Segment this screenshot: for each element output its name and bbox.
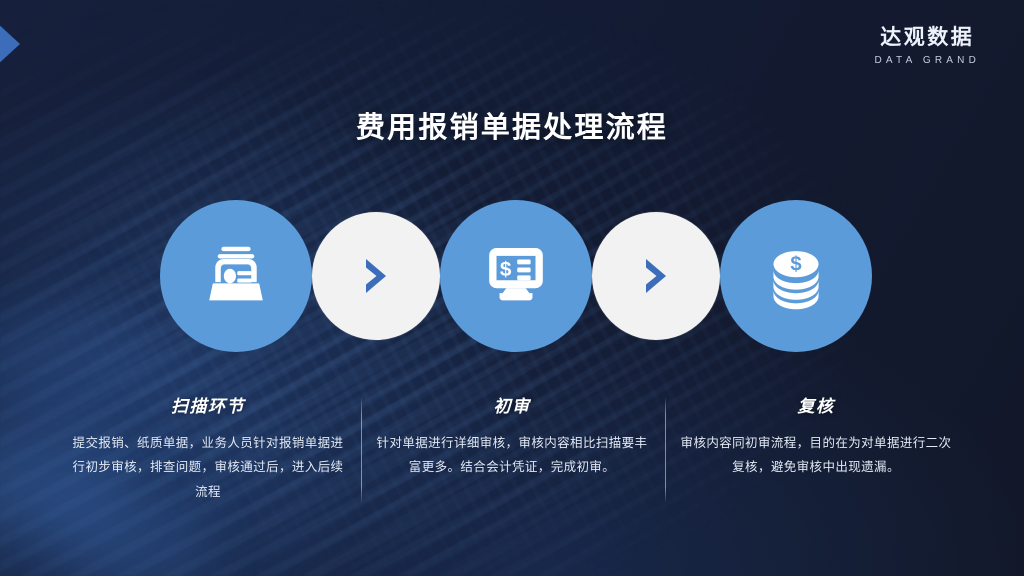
corner-triangle-icon — [0, 22, 20, 66]
coin-stack-icon: $ — [758, 238, 834, 314]
chevron-right-icon — [636, 253, 676, 299]
scanner-icon — [197, 237, 275, 315]
page-title: 费用报销单据处理流程 — [0, 104, 1024, 146]
svg-text:$: $ — [500, 258, 512, 281]
caption-column-scan: 扫描环节 提交报销、纸质单据，业务人员针对报销单据进行初步审核，排查问题，审核通… — [56, 392, 360, 504]
caption-column-recheck: 复核 审核内容同初审流程，目的在为对单据进行二次复核，避免审核中出现遗漏。 — [664, 392, 968, 504]
logo-english-text: DATA GRAND — [874, 55, 980, 66]
caption-heading: 复核 — [680, 392, 952, 417]
monitor-invoice-icon: $ — [477, 237, 555, 315]
chevron-right-icon — [356, 253, 396, 299]
flow-connector-1[interactable] — [312, 212, 440, 340]
background-glow-b — [60, 500, 210, 576]
flow-connector-2[interactable] — [592, 212, 720, 340]
caption-row: 扫描环节 提交报销、纸质单据，业务人员针对报销单据进行初步审核，排查问题，审核通… — [56, 392, 968, 504]
brand-logo: 达观数据 DATA GRAND — [874, 26, 980, 66]
flow-node-scan[interactable] — [160, 200, 312, 352]
caption-body: 审核内容同初审流程，目的在为对单据进行二次复核，避免审核中出现遗漏。 — [680, 431, 952, 480]
flow-node-first-review[interactable]: $ — [440, 200, 592, 352]
caption-body: 针对单据进行详细审核，审核内容相比扫描要丰富更多。结合会计凭证，完成初审。 — [376, 431, 648, 480]
caption-column-first-review: 初审 针对单据进行详细审核，审核内容相比扫描要丰富更多。结合会计凭证，完成初审。 — [360, 392, 664, 504]
process-flow-row: $ $ — [160, 200, 872, 352]
caption-heading: 初审 — [376, 392, 648, 417]
svg-text:$: $ — [790, 254, 801, 276]
flow-node-recheck[interactable]: $ — [720, 200, 872, 352]
caption-heading: 扫描环节 — [72, 392, 344, 417]
slide-canvas: 达观数据 DATA GRAND 费用报销单据处理流程 — [0, 0, 1024, 576]
caption-body: 提交报销、纸质单据，业务人员针对报销单据进行初步审核，排查问题，审核通过后，进入… — [72, 431, 344, 504]
logo-chinese-text: 达观数据 — [874, 26, 980, 50]
